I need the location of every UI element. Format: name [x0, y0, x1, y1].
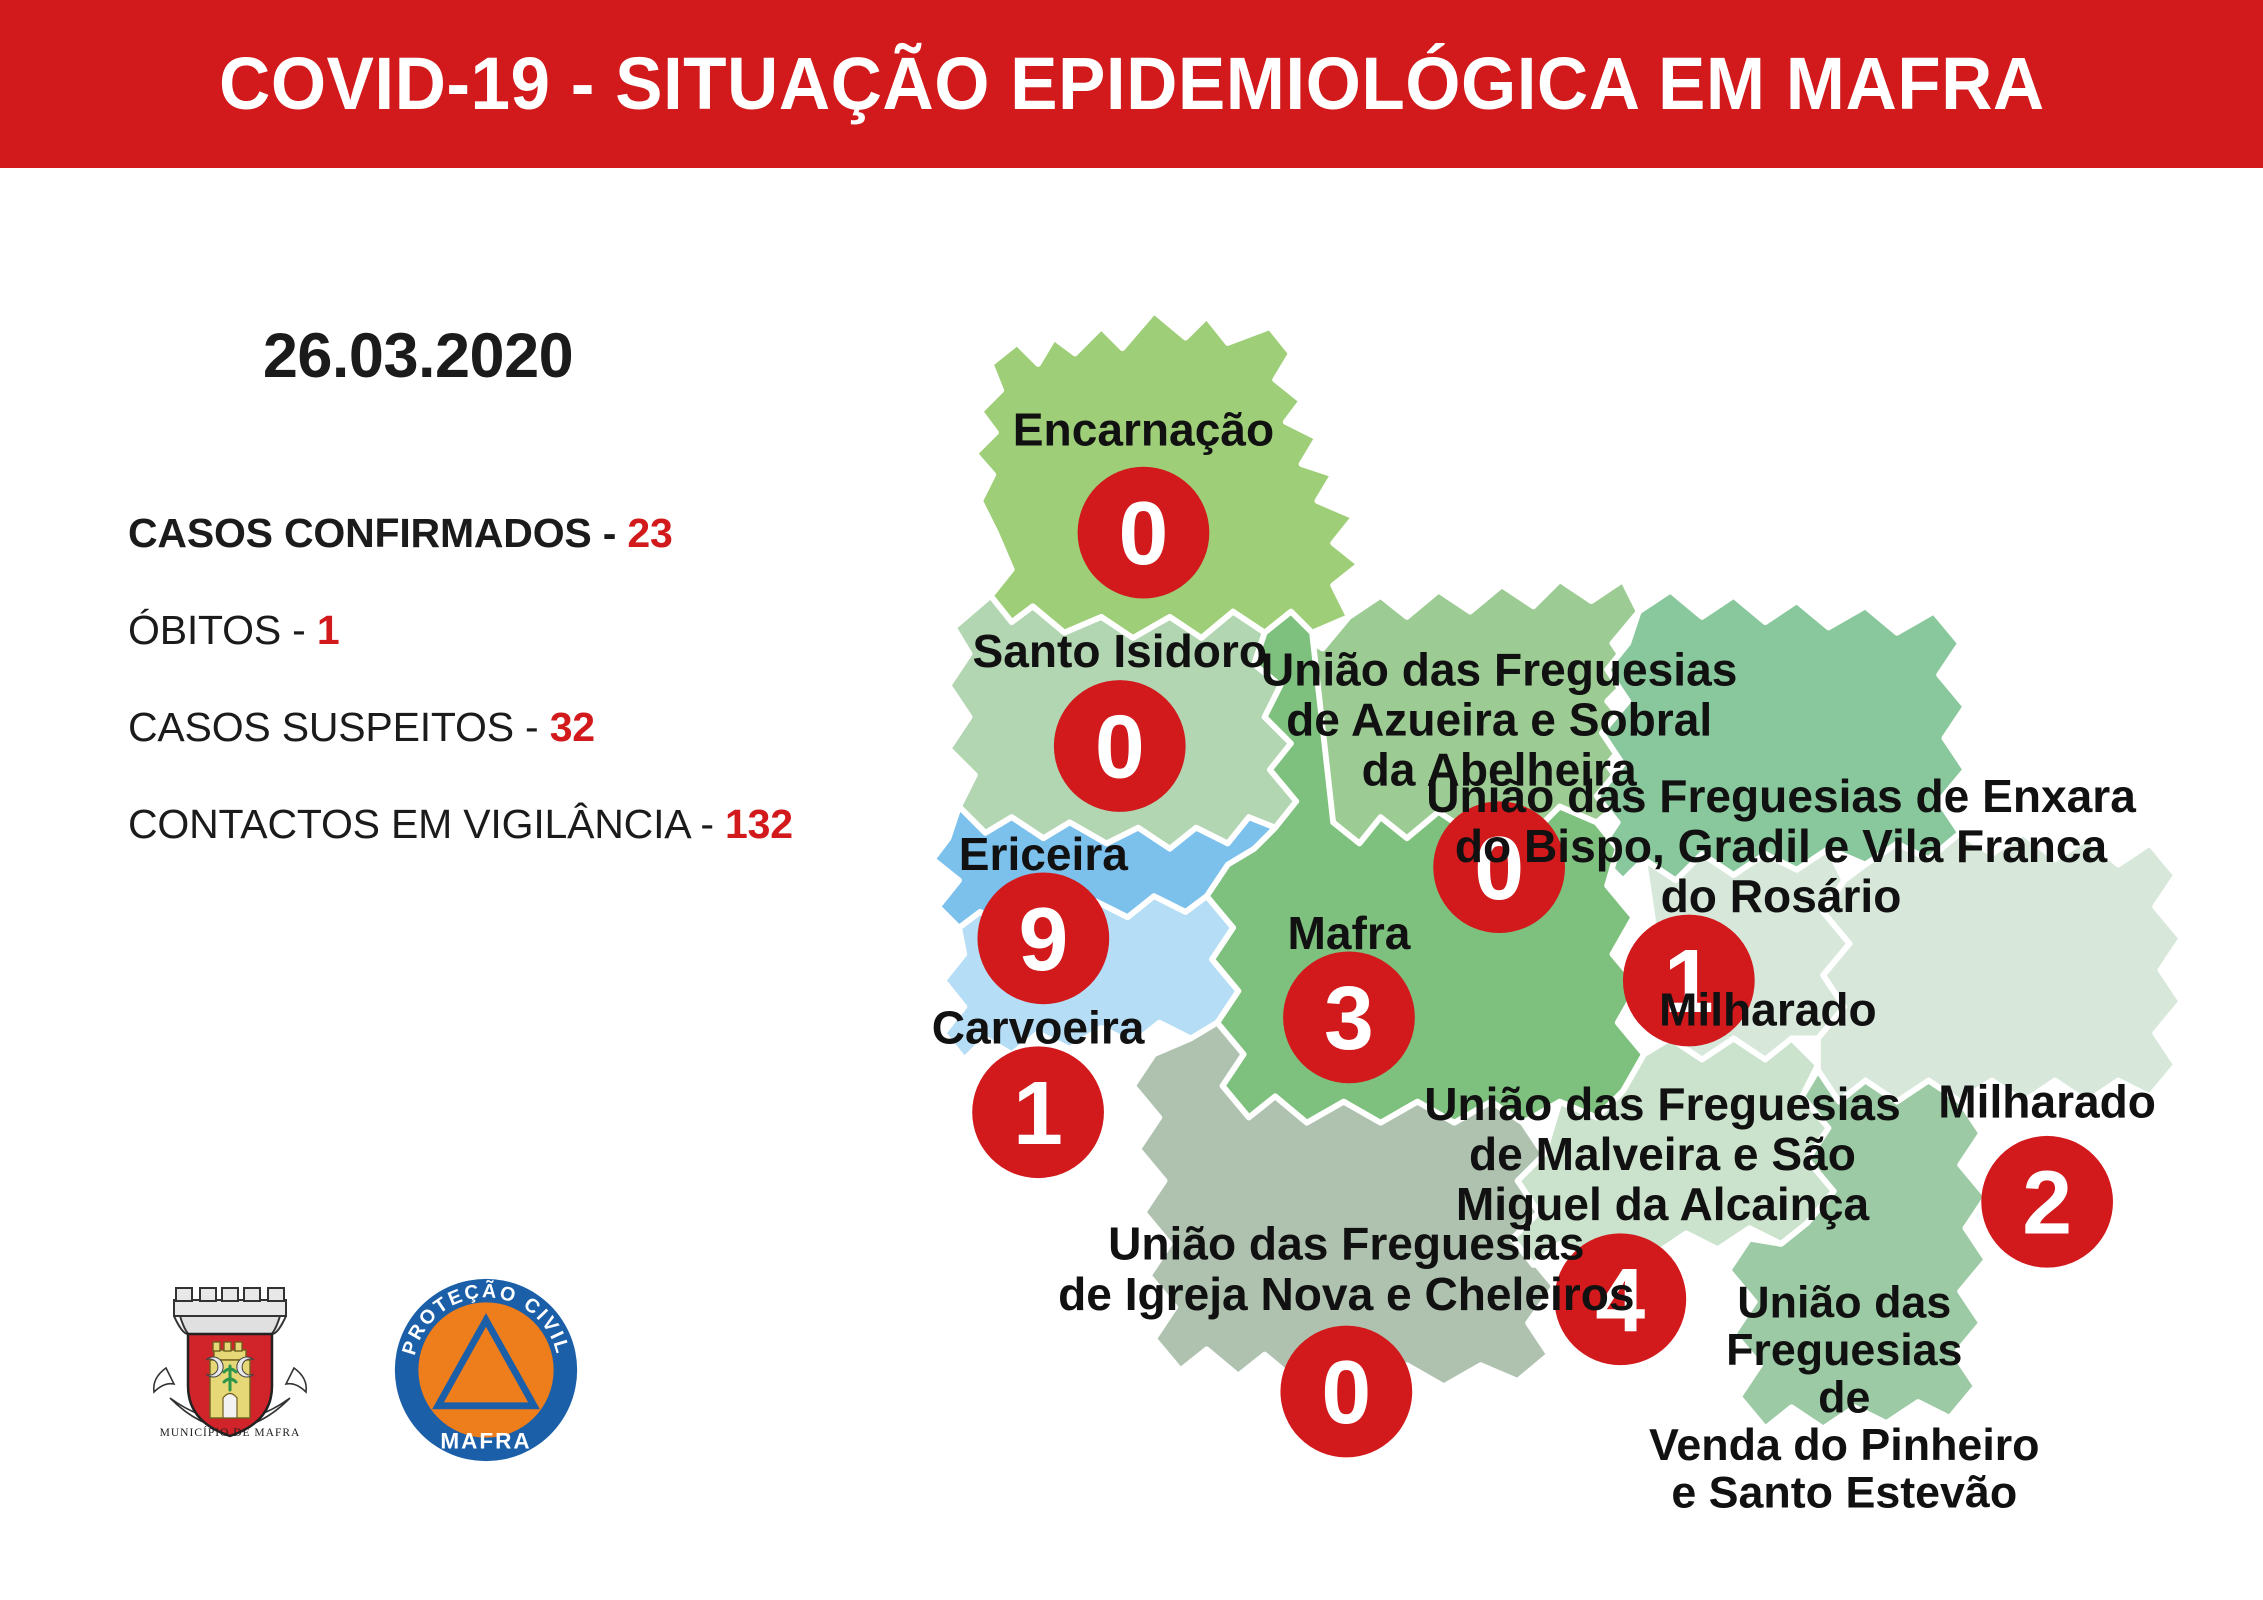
map-marker-milharado-north[interactable]: Milharado — [1659, 983, 1877, 1035]
map-label-venda-1: União das — [1737, 1278, 1951, 1328]
map-badge-value-santo-isidoro: 0 — [1095, 697, 1145, 797]
poster-root: COVID-19 - SITUAÇÃO EPIDEMIOLÓGICA EM MA… — [0, 0, 2263, 1600]
stat-value: 32 — [550, 704, 595, 750]
map-label-encarnacao: Encarnação — [1013, 404, 1274, 456]
map-label-mafra: Mafra — [1287, 907, 1410, 959]
map-label-venda-5: e Santo Estevão — [1671, 1467, 2017, 1517]
protecao-civil-bottom-text: MAFRA — [440, 1428, 531, 1453]
stat-casos-confirmados: CASOS CONFIRMADOS - 23 — [128, 510, 888, 557]
statistics-panel: 26.03.2020 CASOS CONFIRMADOS - 23 ÓBITOS… — [128, 320, 888, 898]
stat-casos-suspeitos: CASOS SUSPEITOS - 32 — [128, 704, 888, 751]
stat-label: CASOS CONFIRMADOS - — [128, 510, 627, 556]
map-label-enxara-3: do Rosário — [1661, 870, 1902, 922]
map-badge-value-encarnacao: 0 — [1119, 483, 1169, 583]
mafra-municipality-map: Encarnação 0 Santo Isidoro 0 União das F… — [880, 248, 2250, 1518]
map-label-venda-4: Venda do Pinheiro — [1649, 1420, 2040, 1470]
stat-contactos-vigilancia: CONTACTOS EM VIGILÂNCIA - 132 — [128, 801, 888, 848]
protecao-civil-mafra-icon: PROTEÇÃO CIVIL MAFRA — [388, 1272, 584, 1468]
map-label-enxara-2: do Bispo, Gradil e Vila Franca — [1455, 820, 2108, 872]
map-badge-value-carvoeira: 1 — [1013, 1063, 1063, 1163]
map-label-venda-3: de — [1818, 1373, 1870, 1423]
map-label-malveira-2: de Malveira e São — [1469, 1128, 1856, 1180]
map-marker-carvoeira[interactable]: Carvoeira 1 — [932, 1002, 1145, 1178]
map-label-venda-2: Freguesias — [1726, 1325, 1962, 1375]
stat-obitos: ÓBITOS - 1 — [128, 607, 888, 654]
map-marker-igreja-nova-cheleiros[interactable]: União das Freguesias de Igreja Nova e Ch… — [1058, 1218, 1634, 1458]
stat-value: 1 — [317, 607, 340, 653]
map-label-azueira-2: de Azueira e Sobral — [1286, 693, 1712, 745]
stat-label: ÓBITOS - — [128, 607, 317, 653]
map-label-malveira-1: União das Freguesias — [1424, 1078, 1900, 1130]
map-badge-value-milharado: 2 — [2022, 1152, 2072, 1252]
map-badge-value-ericeira: 9 — [1018, 889, 1068, 989]
page-title: COVID-19 - SITUAÇÃO EPIDEMIOLÓGICA EM MA… — [219, 47, 2045, 121]
map-badge-value-igreja-nova: 0 — [1321, 1342, 1371, 1442]
map-label-azueira-1: União das Freguesias — [1261, 643, 1737, 695]
stat-label: CONTACTOS EM VIGILÂNCIA - — [128, 801, 725, 847]
stat-value: 132 — [725, 801, 793, 847]
map-label-carvoeira: Carvoeira — [932, 1002, 1145, 1054]
municipio-de-mafra-coat-of-arms-icon: MUNICÍPIO DE MAFRA — [130, 1270, 330, 1470]
map-label-enxara-1: União das Freguesias de Enxara — [1426, 770, 2136, 822]
header-banner: COVID-19 - SITUAÇÃO EPIDEMIOLÓGICA EM MA… — [0, 0, 2263, 168]
stat-label: CASOS SUSPEITOS - — [128, 704, 550, 750]
map-marker-mafra[interactable]: Mafra 3 — [1283, 907, 1415, 1083]
map-label-igreja-nova-2: de Igreja Nova e Cheleiros — [1058, 1268, 1634, 1320]
map-label-ericeira: Ericeira — [959, 828, 1129, 880]
map-label-igreja-nova-1: União das Freguesias — [1108, 1218, 1584, 1270]
map-label-venda-6: das Galés — [1739, 1515, 1951, 1518]
map-label-santo-isidoro: Santo Isidoro — [972, 625, 1267, 677]
map-badge-value-mafra: 3 — [1324, 968, 1374, 1068]
map-svg: Encarnação 0 Santo Isidoro 0 União das F… — [880, 248, 2250, 1518]
logo-row: MUNICÍPIO DE MAFRA PROTEÇÃO CIVIL MAFRA — [130, 1270, 584, 1470]
coat-of-arms-caption: MUNICÍPIO DE MAFRA — [160, 1425, 301, 1439]
map-label-milharado-north: Milharado — [1659, 983, 1877, 1035]
report-date: 26.03.2020 — [128, 320, 888, 392]
map-marker-venda-pinheiro-santo-estevao-gales[interactable]: União das Freguesias de Venda do Pinheir… — [1649, 1278, 2040, 1518]
stat-value: 23 — [627, 510, 672, 556]
map-label-milharado: Milharado — [1938, 1075, 2156, 1127]
